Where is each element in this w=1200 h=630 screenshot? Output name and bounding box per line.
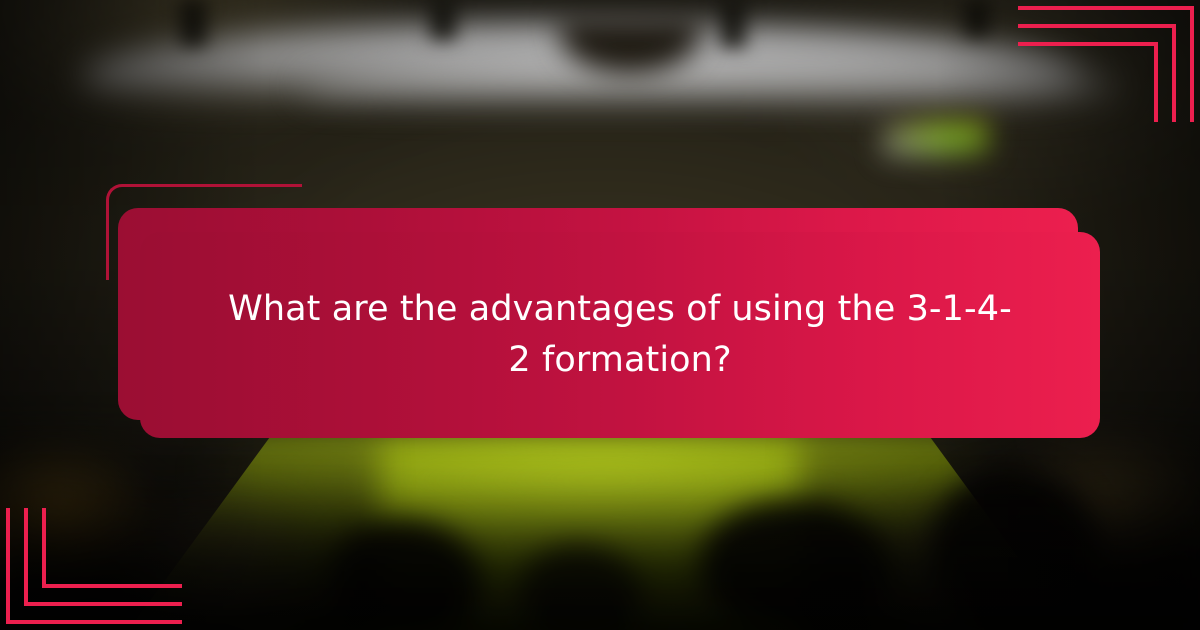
question-title: What are the advantages of using the 3-1… xyxy=(220,284,1020,386)
question-card: What are the advantages of using the 3-1… xyxy=(140,232,1100,438)
question-card-stack: What are the advantages of using the 3-1… xyxy=(0,0,1200,630)
social-card-canvas: What are the advantages of using the 3-1… xyxy=(0,0,1200,630)
